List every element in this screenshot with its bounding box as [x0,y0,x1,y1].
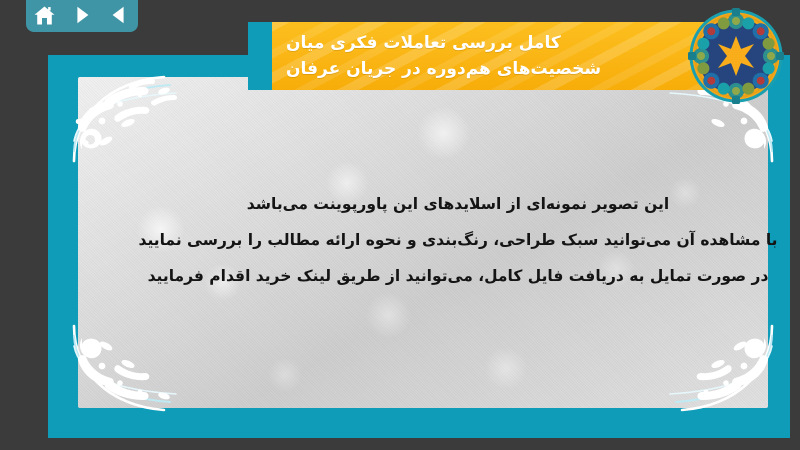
title-line-2: شخصیت‌های هم‌دوره در جریان عرفان [286,56,601,82]
home-icon[interactable] [33,3,57,27]
forward-triangle-icon[interactable] [70,3,94,27]
slide-frame: این تصویر نمونه‌ای از اسلایدهای این پاور… [48,55,790,438]
title-line-1: کامل بررسی تعاملات فکری میان [286,30,561,56]
body-line-3: در صورت تمایل به دریافت فایل کامل، می‌تو… [118,259,790,295]
body-line-2: با مشاهده آن می‌توانید سبک طراحی، رنگ‌بن… [118,223,790,259]
slide-stage: این تصویر نمونه‌ای از اسلایدهای این پاور… [0,0,800,450]
banner-teal-cap [248,22,272,90]
body-line-1: این تصویر نمونه‌ای از اسلایدهای این پاور… [118,187,790,223]
slide-body-text: این تصویر نمونه‌ای از اسلایدهای این پاور… [118,187,790,295]
title-banner: کامل بررسی تعاملات فکری میان شخصیت‌های ه… [272,22,750,90]
navigation-bar [26,0,138,32]
persian-medallion-ornament [686,6,786,106]
back-triangle-icon[interactable] [107,3,131,27]
